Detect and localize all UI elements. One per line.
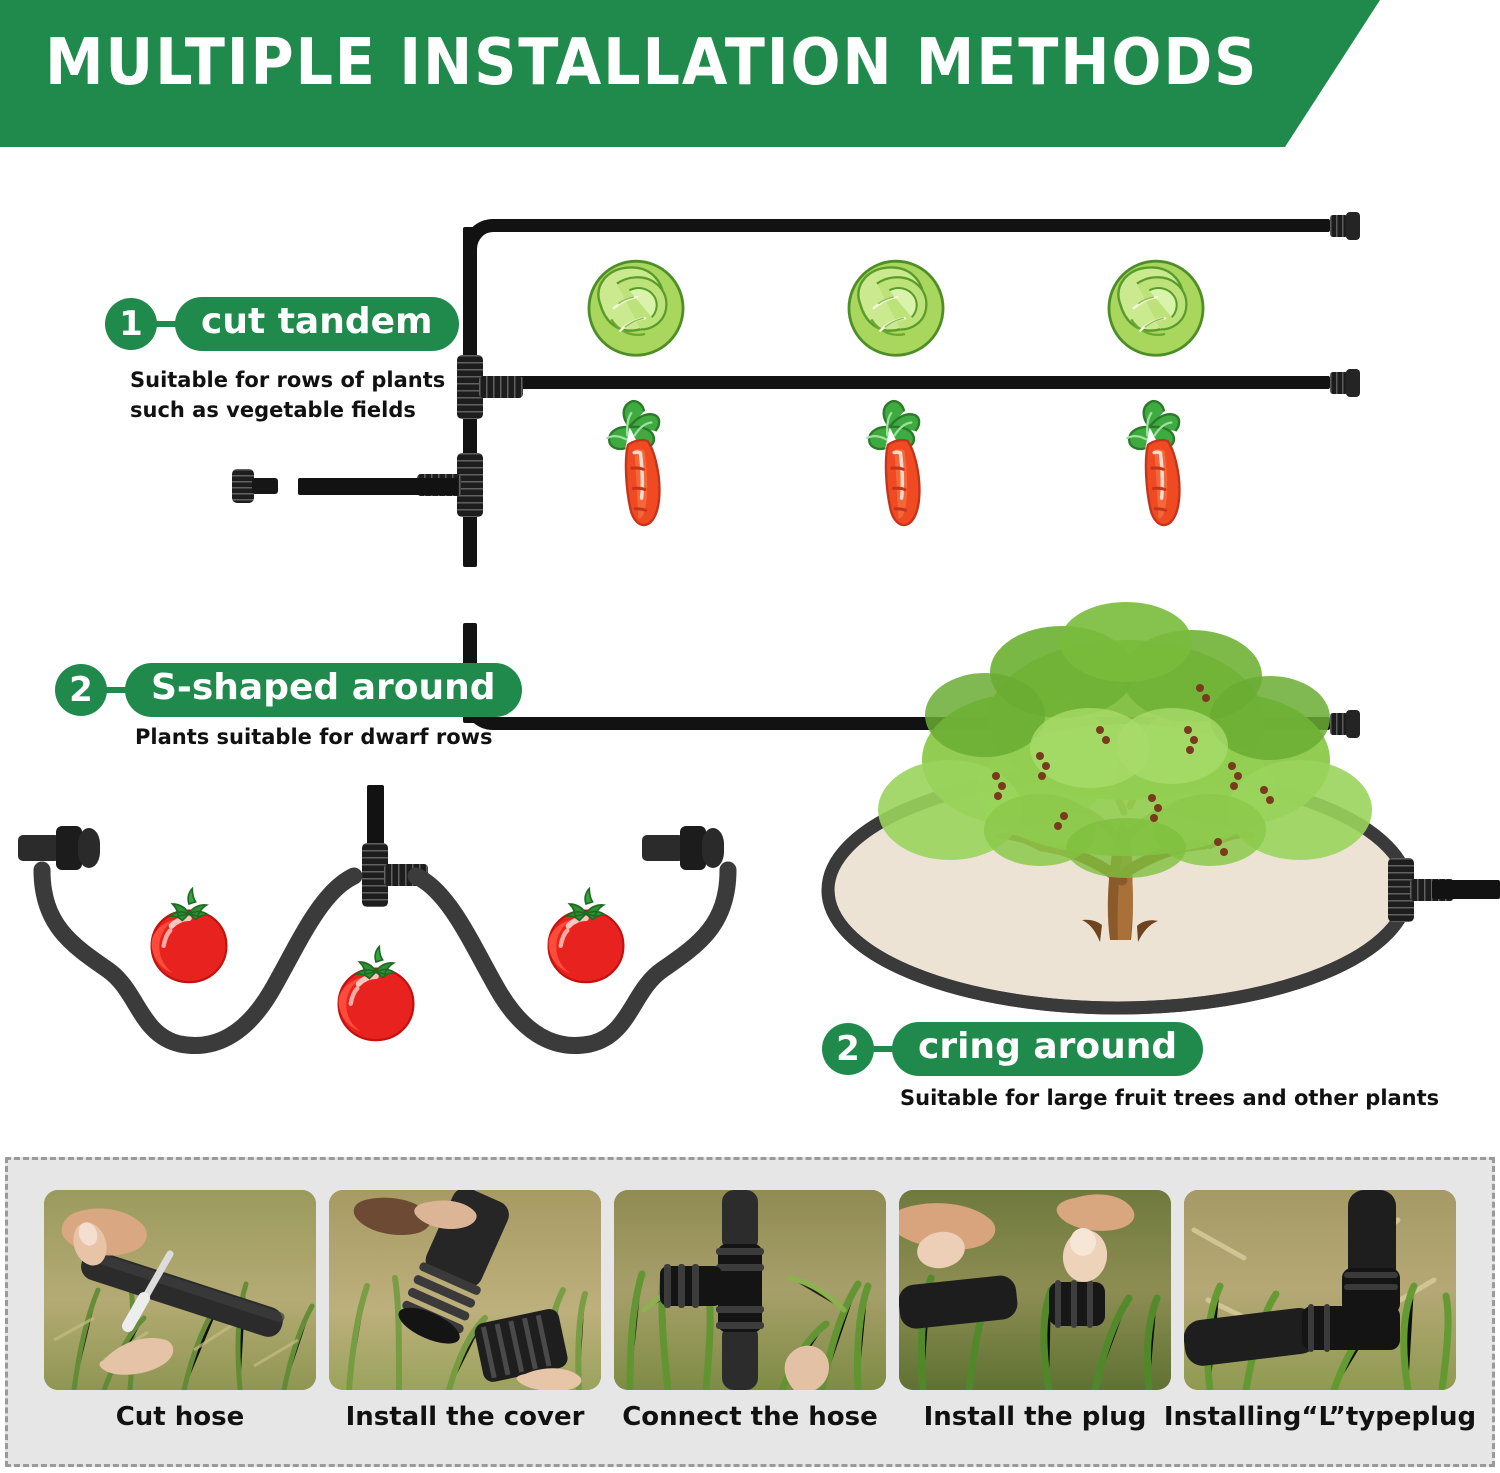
tomato-illustration <box>133 882 245 997</box>
photo-step-caption: Installing“L”typeplug <box>1164 1402 1476 1432</box>
photo-step-caption: Install the plug <box>924 1402 1147 1432</box>
end-plug-row-2 <box>1330 369 1360 397</box>
canopy-foliage <box>878 602 1372 878</box>
method-2-title: S-shaped around <box>125 663 522 717</box>
photo-thumbnail[interactable] <box>329 1190 601 1390</box>
carrot-illustration <box>835 393 965 538</box>
method-3-title: cring around <box>892 1022 1203 1076</box>
photo-step-connect-hose[interactable]: Connect the hose <box>614 1190 886 1432</box>
carrot-illustration <box>1095 393 1225 538</box>
hose-supply-line <box>298 478 458 495</box>
end-cap-barb <box>18 835 60 861</box>
photo-thumbnail[interactable] <box>614 1190 886 1390</box>
photo-thumbnail[interactable] <box>899 1190 1171 1390</box>
tee-connector-row2 <box>457 355 483 419</box>
end-plug-cap <box>1346 369 1360 397</box>
adapter-nut <box>232 469 254 503</box>
method-2-caption: Plants suitable for dwarf rows <box>135 722 493 752</box>
method-3-number: 2 <box>822 1023 874 1075</box>
hose-vertical-upper <box>463 227 477 472</box>
method-1-diagram <box>220 195 1400 575</box>
plug-photo <box>1049 1280 1105 1328</box>
method-2-number: 2 <box>55 664 107 716</box>
cabbage-illustration <box>580 250 692 367</box>
faucet-adapter-icon <box>232 469 278 503</box>
tomato-illustration <box>320 940 432 1055</box>
method-2-caption-line1: Plants suitable for dwarf rows <box>135 722 493 752</box>
photo-thumbnail[interactable] <box>44 1190 316 1390</box>
cabbage-illustration <box>1100 250 1212 367</box>
hose-supply-ring <box>1432 880 1500 899</box>
end-cap-right <box>642 826 724 870</box>
method-3-diagram <box>800 580 1500 1020</box>
hose-row-2 <box>508 376 1330 389</box>
installation-steps-strip: Cut hose <box>5 1157 1495 1467</box>
photo-step-install-l-plug[interactable]: Installing“L”typeplug <box>1184 1190 1456 1432</box>
method-1-number: 1 <box>105 298 157 350</box>
photo-step-caption: Connect the hose <box>622 1402 878 1432</box>
end-cap-left <box>18 826 100 870</box>
end-cap-ring-outer <box>702 828 724 868</box>
hose-row-1 <box>500 219 1330 232</box>
end-plug-row-1 <box>1330 212 1360 240</box>
page-title: MULTIPLE INSTALLATION METHODS <box>45 26 1258 100</box>
method-3-caption: Suitable for large fruit trees and other… <box>900 1083 1439 1113</box>
end-cap-ring-outer <box>78 828 100 868</box>
tee-connector-supply <box>457 453 483 517</box>
badge-dash-icon <box>872 1046 894 1052</box>
tee-connector-ring <box>1388 858 1414 922</box>
photo-thumbnail[interactable] <box>1184 1190 1456 1390</box>
method-2-diagram <box>20 830 750 1100</box>
photo-step-install-cover[interactable]: Install the cover <box>329 1190 601 1432</box>
carrot-illustration <box>575 393 705 538</box>
badge-dash-icon <box>155 321 177 327</box>
tomato-illustration <box>530 882 642 997</box>
method-3-caption-line1: Suitable for large fruit trees and other… <box>900 1083 1439 1113</box>
photo-step-caption: Cut hose <box>116 1402 245 1432</box>
end-cap-barb <box>642 835 684 861</box>
tee-arm <box>479 376 523 398</box>
hose-corner-top-left <box>463 219 503 259</box>
end-plug-cap <box>1346 212 1360 240</box>
adapter-barb <box>252 478 278 494</box>
method-2-badge: 2 S-shaped around <box>55 663 522 717</box>
photo-step-caption: Install the cover <box>346 1402 585 1432</box>
cabbage-illustration <box>840 250 952 367</box>
method-3-badge: 2 cring around <box>822 1022 1203 1076</box>
badge-dash-icon <box>105 687 127 693</box>
photo-step-install-plug[interactable]: Install the plug <box>899 1190 1171 1432</box>
photo-step-cut-hose[interactable]: Cut hose <box>44 1190 316 1432</box>
